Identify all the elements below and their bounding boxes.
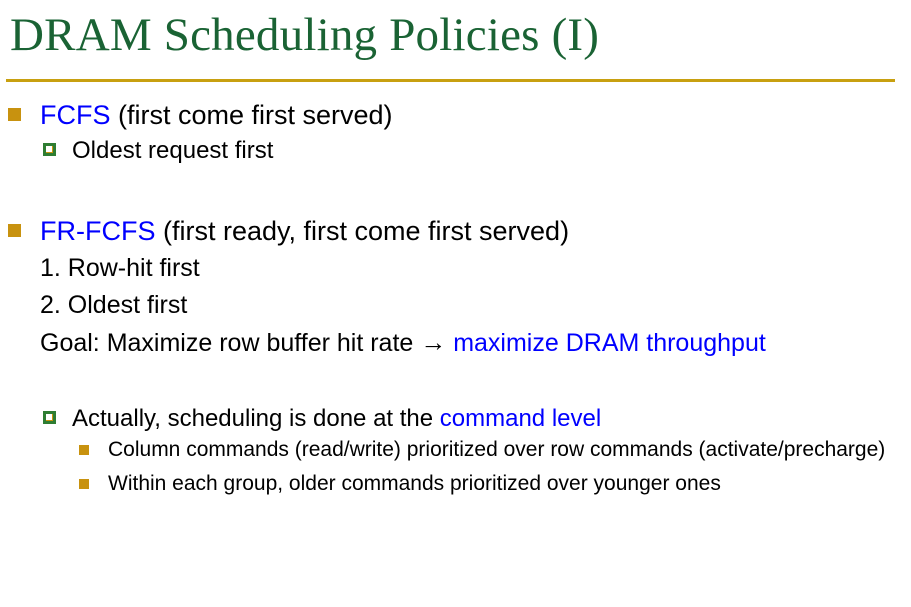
small-square-bullet-icon xyxy=(79,445,89,455)
frfcfs-step-2-text: 2. Oldest first xyxy=(40,291,187,319)
bullet-item-frfcfs: FR-FCFS (first ready, first come first s… xyxy=(0,212,911,250)
fcfs-sub-text: Oldest request first xyxy=(72,137,273,164)
frfcfs-expansion: (first ready, first come first served) xyxy=(155,216,569,246)
bullet-item-within-group: Within each group, older commands priori… xyxy=(0,470,911,498)
slide-body: FCFS (first come first served) Oldest re… xyxy=(0,96,911,498)
frfcfs-step-1-text: 1. Row-hit first xyxy=(40,254,200,282)
hollow-square-bullet-icon xyxy=(43,143,56,156)
right-arrow-icon: → xyxy=(420,327,446,357)
page-title: DRAM Scheduling Policies (I) xyxy=(10,7,897,63)
hollow-square-bullet-icon xyxy=(43,411,56,424)
command-level-highlight: command level xyxy=(440,405,601,432)
frfcfs-step-2: 2. Oldest first xyxy=(0,287,911,324)
bullet-item-oldest-request: Oldest request first xyxy=(0,134,911,168)
bullet-item-column-commands: Column commands (read/write) prioritized… xyxy=(0,436,911,464)
frfcfs-goal: Goal: Maximize row buffer hit rate → max… xyxy=(0,324,911,362)
goal-prefix-text: Goal: Maximize row buffer hit rate xyxy=(40,329,420,357)
title-divider xyxy=(6,79,895,82)
fcfs-acronym: FCFS xyxy=(40,100,111,130)
spacer xyxy=(0,362,911,402)
square-bullet-icon xyxy=(8,108,21,121)
small-square-bullet-icon xyxy=(79,479,89,489)
command-level-prefix: Actually, scheduling is done at the xyxy=(72,405,440,432)
frfcfs-acronym: FR-FCFS xyxy=(40,216,155,246)
square-bullet-icon xyxy=(8,224,21,237)
bullet-item-fcfs: FCFS (first come first served) xyxy=(0,96,911,134)
fcfs-expansion: (first come first served) xyxy=(111,100,393,130)
slide: DRAM Scheduling Policies (I) FCFS (first… xyxy=(0,0,911,607)
spacer xyxy=(0,168,911,212)
title-block: DRAM Scheduling Policies (I) xyxy=(10,7,897,63)
within-group-text: Within each group, older commands priori… xyxy=(108,472,721,495)
goal-highlight-text: maximize DRAM throughput xyxy=(446,329,766,357)
bullet-item-command-level: Actually, scheduling is done at the comm… xyxy=(0,402,911,436)
frfcfs-step-1: 1. Row-hit first xyxy=(0,250,911,287)
column-commands-text: Column commands (read/write) prioritized… xyxy=(108,438,885,461)
